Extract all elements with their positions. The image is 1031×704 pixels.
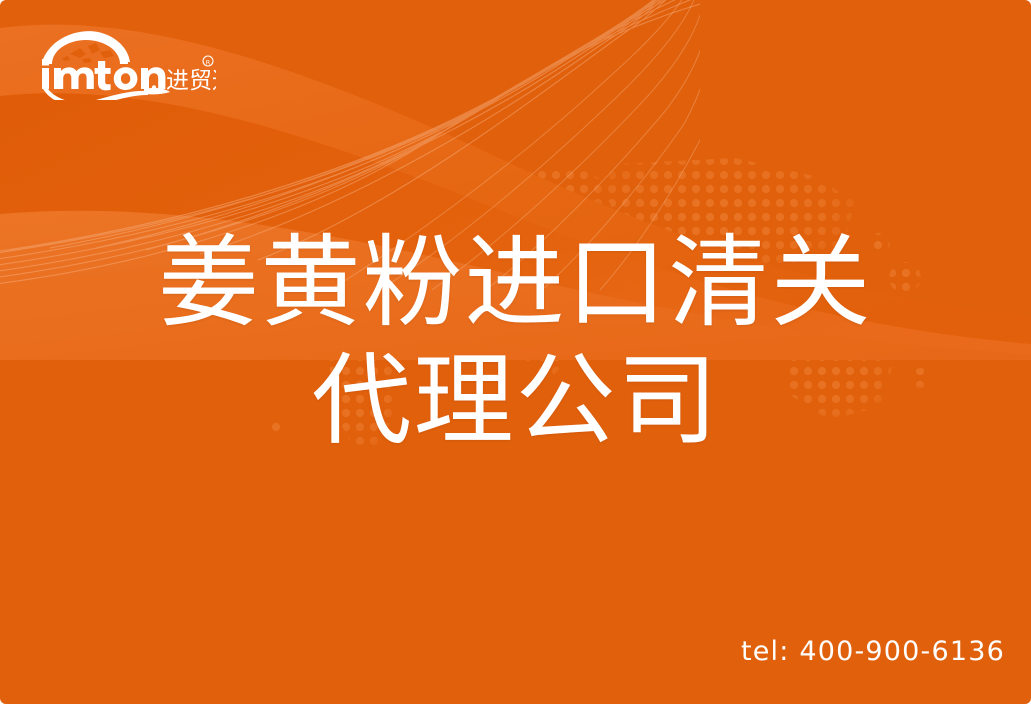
imton-wordmark <box>42 59 165 90</box>
svg-text:R: R <box>206 58 211 66</box>
page-title: 姜黄粉进口清关 代理公司 <box>0 224 1031 460</box>
promo-banner: 进贸通 R 姜黄粉进口清关 代理公司 tel: 400-900-6136 <box>0 0 1031 704</box>
svg-text:进贸通: 进贸通 <box>166 68 216 94</box>
brand-chinese-mark: 进贸通 <box>166 68 216 94</box>
brand-logo[interactable]: 进贸通 R <box>36 28 216 100</box>
headline-line-2: 代理公司 <box>0 342 1031 460</box>
globe-icon <box>42 31 130 64</box>
trademark-icon: R <box>203 56 213 66</box>
contact-phone[interactable]: tel: 400-900-6136 <box>741 636 1005 667</box>
headline-line-1: 姜黄粉进口清关 <box>0 224 1031 342</box>
